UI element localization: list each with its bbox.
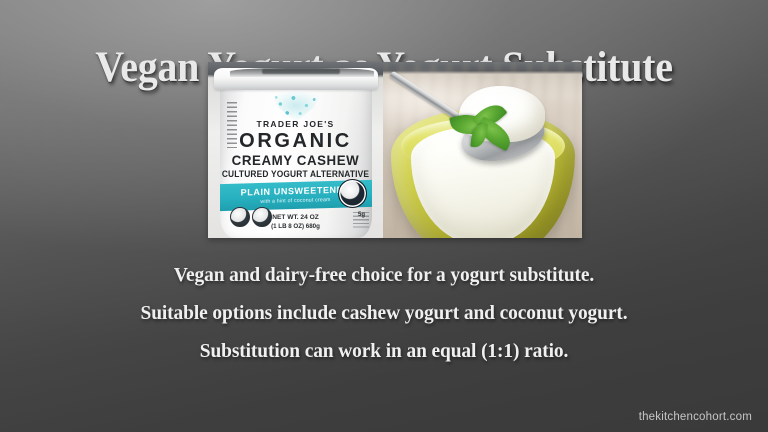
site-watermark: thekitchencohort.com	[639, 411, 752, 423]
usda-organic-badge-icon	[230, 207, 250, 227]
tub-organic-label: ORGANIC	[208, 130, 383, 153]
tub-side-mark: 5g	[358, 212, 365, 218]
photo-yogurt-tub: TRADER JOE'S ORGANIC CREAMY CASHEW CULTU…	[208, 62, 383, 238]
tub-variety-label: CREAMY CASHEW	[212, 152, 378, 168]
photo-strip: TRADER JOE'S ORGANIC CREAMY CASHEW CULTU…	[208, 62, 582, 238]
non-gmo-badge-icon	[252, 207, 272, 227]
tub-brand-label: TRADER JOE'S	[208, 119, 383, 129]
body-copy: Vegan and dairy-free choice for a yogurt…	[0, 256, 768, 370]
slide-canvas: Vegan Yogurt as Yogurt Substitute TRADER…	[0, 0, 768, 432]
body-line-2: Suitable options include cashew yogurt a…	[12, 294, 757, 332]
tub-seal-badge-icon	[338, 179, 367, 208]
body-line-3: Substitution can work in an equal (1:1) …	[12, 332, 757, 370]
photo-yogurt-bowl	[383, 62, 582, 238]
tub-lid	[214, 68, 378, 90]
tub-lid-print	[262, 69, 340, 74]
body-line-1: Vegan and dairy-free choice for a yogurt…	[12, 256, 757, 294]
